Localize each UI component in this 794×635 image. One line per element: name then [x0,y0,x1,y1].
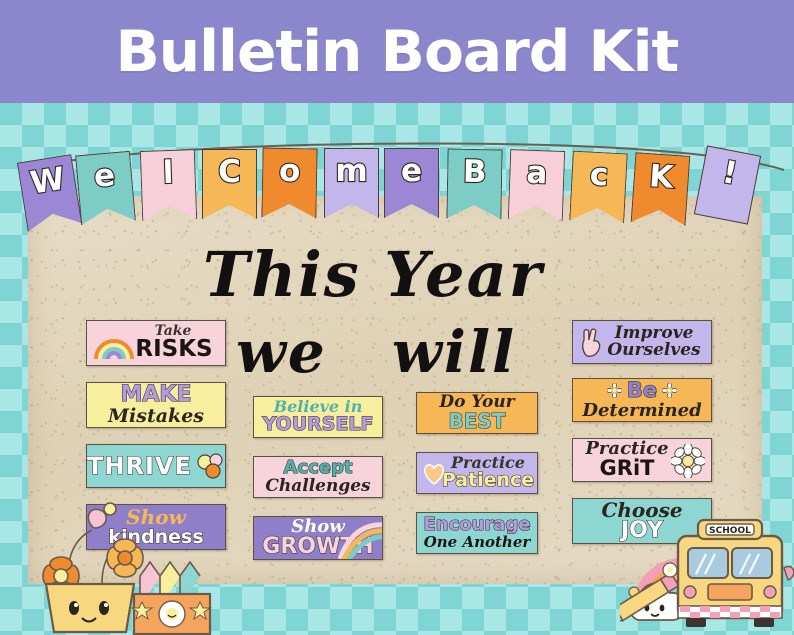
label-line2: Challenges [265,478,370,495]
pennant-letter: c [589,160,609,192]
pennant-letter: C [218,157,241,188]
school-bus-text: SCHOOL [709,526,751,536]
pennant-letter: ! [720,157,740,190]
label-line1: Encourage [423,516,530,534]
label-line2: GRiT [600,458,655,479]
label-line2: Determined [582,402,701,420]
label-line1: MAKE [121,384,192,406]
label-card-improve-ourselves: Improve Ourselves [572,320,712,364]
peace-hand-icon [579,328,605,358]
rainbow-icon [338,519,382,559]
pennant-letter: o [279,156,301,187]
welcome-back-pennant-banner: W e l C o m e B a c K ! [0,140,794,235]
label-card-take-risks: Take RISKS [86,320,226,366]
pennant-letter: e [401,156,422,187]
label-card-make-mistakes: MAKE Mistakes [86,382,226,428]
pennant-letter: a [526,158,548,190]
label-line2: One Another [424,535,531,550]
label-card-show-growth: Show GROWTH [253,516,383,560]
label-card-encourage-one-another: Encourage One Another [416,512,538,554]
label-card-do-your-best: Do Your BEST [416,392,538,434]
headline-this-year: This Year [203,238,543,311]
headline-will: will [392,318,516,386]
smiley-faces-icon [196,453,225,479]
header-banner: Bulletin Board Kit [0,0,794,103]
label-line1: THRIVE [87,454,192,478]
decor-bottom-right: SCHOOL [620,490,794,635]
label-card-believe-in-yourself: Believe in YOURSELF [253,396,383,438]
heart-icon [421,462,447,486]
pennant-letter: K [648,161,674,194]
label-line1: Accept [284,459,353,477]
label-card-practice-grit: Practice GRiT [572,438,712,482]
headline-we: we [236,318,327,386]
pennant-letter: e [93,160,117,193]
page-title: Bulletin Board Kit [116,19,679,85]
daisy-icon [662,383,677,398]
label-card-accept-challenges: Accept Challenges [253,456,383,498]
label-line2: YOURSELF [262,415,373,434]
label-card-thrive: THRIVE [86,444,226,488]
rainbow-icon [92,330,138,360]
label-line1: Be [627,380,657,401]
decor-bottom-left [6,498,221,635]
daisy-icon [607,383,622,398]
label-line2: BEST [449,411,506,431]
pennant-letter: m [335,156,367,187]
daisy-icon [671,444,705,478]
label-line2: Mistakes [108,407,204,426]
pennant-letter: W [28,164,67,200]
pennant-letter: l [162,158,174,189]
label-card-practice-patience: Practice Patience [416,452,538,494]
label-line2: Ourselves [607,342,700,359]
label-line2: RISKS [135,338,212,361]
pennant-letter: B [463,157,487,188]
label-card-be-determined: Be Determined [572,378,712,422]
bulletin-board-kit-image: Bulletin Board Kit This Year we will W e… [0,0,794,635]
label-line2: Patience [442,471,534,490]
